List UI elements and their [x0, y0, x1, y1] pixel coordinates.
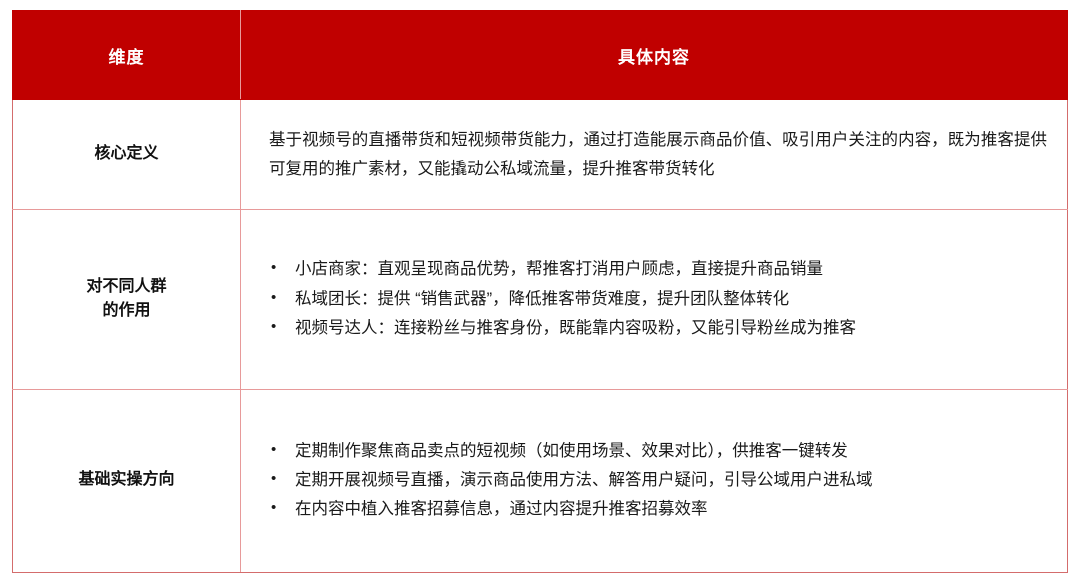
table-row: 对不同人群 的作用 小店商家：直观呈现商品优势，帮推客打消用户顾虑，直接提升商品… — [13, 210, 1068, 389]
header-cell-content: 具体内容 — [241, 11, 1068, 100]
list-item: 定期制作聚焦商品卖点的短视频（如使用场景、效果对比），供推客一键转发 — [269, 437, 1047, 465]
table-body: 核心定义 基于视频号的直播带货和短视频带货能力，通过打造能展示商品价值、吸引用户… — [13, 100, 1068, 573]
table-row: 基础实操方向 定期制作聚焦商品卖点的短视频（如使用场景、效果对比），供推客一键转… — [13, 389, 1068, 573]
bullet-list: 小店商家：直观呈现商品优势，帮推客打消用户顾虑，直接提升商品销量 私域团长：提供… — [269, 255, 1047, 342]
content-paragraph: 基于视频号的直播带货和短视频带货能力，通过打造能展示商品价值、吸引用户关注的内容… — [269, 126, 1047, 183]
dimension-cell-basic-operations: 基础实操方向 — [13, 389, 241, 573]
list-item: 私域团长：提供 “销售武器”，降低推客带货难度，提升团队整体转化 — [269, 285, 1047, 313]
bullet-list: 定期制作聚焦商品卖点的短视频（如使用场景、效果对比），供推客一键转发 定期开展视… — [269, 437, 1047, 524]
list-item: 在内容中植入推客招募信息，通过内容提升推客招募效率 — [269, 495, 1047, 523]
content-cell-core-definition: 基于视频号的直播带货和短视频带货能力，通过打造能展示商品价值、吸引用户关注的内容… — [241, 100, 1068, 210]
table-row: 核心定义 基于视频号的直播带货和短视频带货能力，通过打造能展示商品价值、吸引用户… — [13, 100, 1068, 210]
list-item: 小店商家：直观呈现商品优势，帮推客打消用户顾虑，直接提升商品销量 — [269, 255, 1047, 283]
dimension-label-line: 核心定义 — [21, 142, 232, 167]
dimension-label-line: 的作用 — [21, 299, 232, 324]
dimension-cell-audience-roles: 对不同人群 的作用 — [13, 210, 241, 389]
table-header: 维度 具体内容 — [13, 11, 1068, 100]
content-cell-audience-roles: 小店商家：直观呈现商品优势，帮推客打消用户顾虑，直接提升商品销量 私域团长：提供… — [241, 210, 1068, 389]
dimension-cell-core-definition: 核心定义 — [13, 100, 241, 210]
header-row: 维度 具体内容 — [13, 11, 1068, 100]
comparison-table-container: 维度 具体内容 核心定义 基于视频号的直播带货和短视频带货能力，通过打造能展示商… — [12, 10, 1068, 573]
dimension-label-line: 基础实操方向 — [21, 468, 232, 493]
content-cell-basic-operations: 定期制作聚焦商品卖点的短视频（如使用场景、效果对比），供推客一键转发 定期开展视… — [241, 389, 1068, 573]
list-item: 定期开展视频号直播，演示商品使用方法、解答用户疑问，引导公域用户进私域 — [269, 466, 1047, 494]
dimension-label-line: 对不同人群 — [21, 275, 232, 300]
list-item: 视频号达人：连接粉丝与推客身份，既能靠内容吸粉，又能引导粉丝成为推客 — [269, 314, 1047, 342]
header-cell-dimension: 维度 — [13, 11, 241, 100]
dimension-content-table: 维度 具体内容 核心定义 基于视频号的直播带货和短视频带货能力，通过打造能展示商… — [12, 10, 1068, 573]
